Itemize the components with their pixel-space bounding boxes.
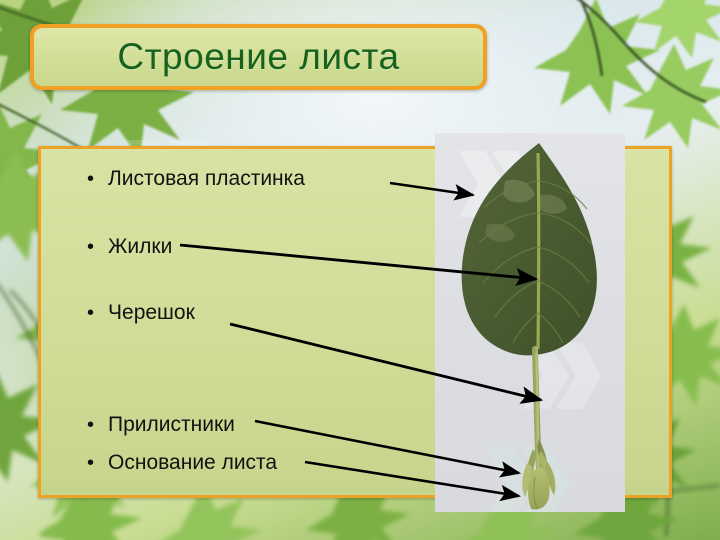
list-item: • Жилки <box>87 235 172 259</box>
list-item-label: Жилки <box>108 235 172 259</box>
list-item-label: Основание листа <box>108 451 277 475</box>
leaf-midrib <box>538 153 539 349</box>
label-list: • Листовая пластинка • Жилки • Черешок •… <box>41 149 401 495</box>
list-item-label: Прилистники <box>108 413 235 437</box>
slide-canvas: Строение листа • Листовая пластинка • Жи… <box>0 0 720 540</box>
bullet-marker-icon: • <box>87 237 94 257</box>
list-item: • Черешок <box>87 301 195 325</box>
list-item: • Основание листа <box>87 451 277 475</box>
list-item-label: Листовая пластинка <box>108 167 305 191</box>
bullet-marker-icon: • <box>87 415 94 435</box>
bullet-marker-icon: • <box>87 303 94 323</box>
title-plaque: Строение листа <box>30 24 487 90</box>
bullet-marker-icon: • <box>87 169 94 189</box>
page-title: Строение листа <box>117 36 399 78</box>
leaf-photograph <box>435 133 625 512</box>
bullet-marker-icon: • <box>87 453 94 473</box>
list-item-label: Черешок <box>108 301 195 325</box>
leaf-illustration <box>435 133 625 512</box>
list-item: • Прилистники <box>87 413 235 437</box>
list-item: • Листовая пластинка <box>87 167 305 191</box>
